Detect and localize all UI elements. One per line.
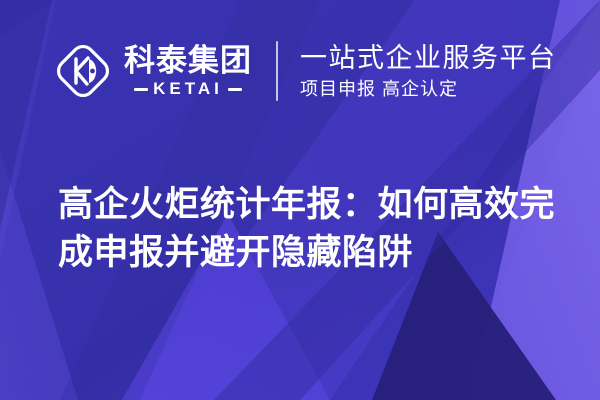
dash-icon <box>134 88 148 91</box>
tagline-main: 一站式企业服务平台 <box>300 42 557 74</box>
banner-header: 科泰集团 KETAI 一站式企业服务平台 项目申报 高企认定 <box>52 34 557 108</box>
tagline-block: 一站式企业服务平台 项目申报 高企认定 <box>300 37 557 105</box>
page-title: 高企火炬统计年报：如何高效完成申报并避开隐藏陷阱 <box>58 181 563 277</box>
brand-name-chinese: 科泰集团 <box>124 44 252 78</box>
brand-wordmark: 科泰集团 KETAI <box>124 39 252 103</box>
dash-icon <box>228 88 242 91</box>
promotional-banner: 科泰集团 KETAI 一站式企业服务平台 项目申报 高企认定 高企火炬统计年报：… <box>0 0 600 400</box>
tagline-sub: 项目申报 高企认定 <box>300 77 557 101</box>
brand-name-english-row: KETAI <box>124 80 252 98</box>
brand-logo[interactable]: 科泰集团 KETAI <box>52 34 252 108</box>
ketai-kd-diamond-logo-icon <box>52 40 114 102</box>
vertical-divider-icon <box>276 41 278 101</box>
brand-name-english: KETAI <box>153 80 223 98</box>
